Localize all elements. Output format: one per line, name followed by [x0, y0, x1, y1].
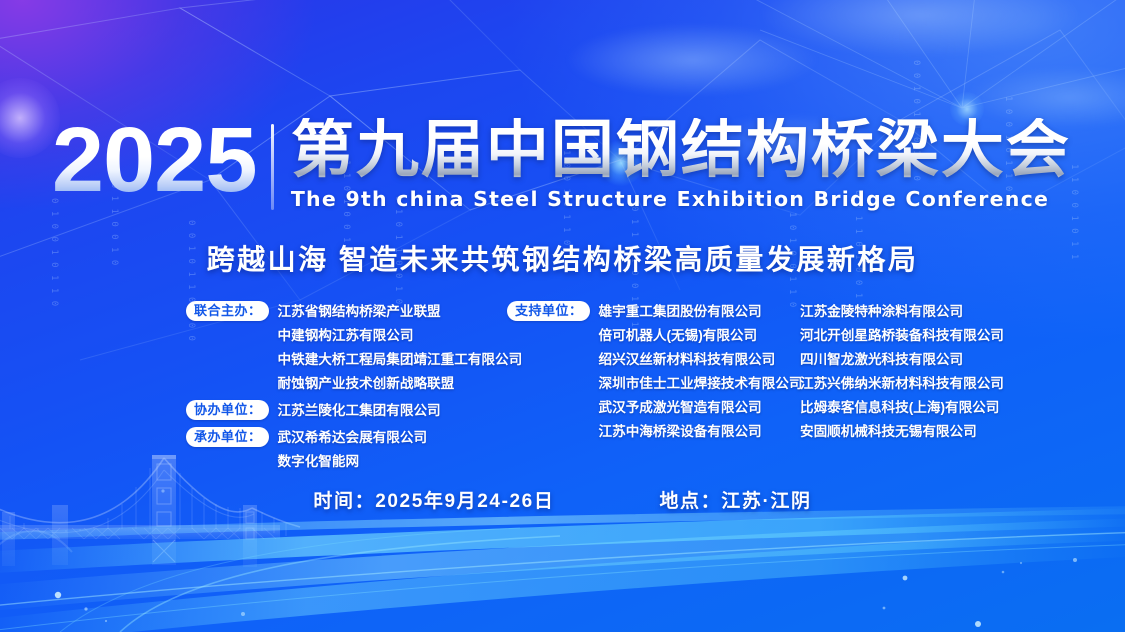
list-item: 安固顺机械科技无锡有限公司 — [800, 420, 1040, 444]
list-item: 江苏兴佛纳米新材料科技有限公司 — [800, 372, 1040, 396]
list-item: 耐蚀钢产业技术创新战略联盟 — [278, 372, 523, 396]
organizer-column-left: 联合主办： 江苏省钢结构桥梁产业联盟 中建钢构江苏有限公司 中铁建大桥工程局集团… — [186, 300, 516, 477]
event-location: 地点：江苏·江阴 — [659, 486, 811, 513]
label-supporters: 支持单位： — [507, 301, 590, 321]
list-item: 中建钢构江苏有限公司 — [278, 324, 523, 348]
label-co-organizers: 协办单位： — [186, 400, 269, 420]
organizer-group-undertakers: 承办单位： 武汉希希达会展有限公司 数字化智能网 — [186, 426, 516, 474]
organizer-column-middle: 支持单位： 雄宇重工集团股份有限公司 倍可机器人(无锡)有限公司 绍兴汉丝新材料… — [507, 300, 807, 447]
list-item: 江苏中海桥梁设备有限公司 — [599, 420, 803, 444]
supporters-list-continued: 江苏金陵特种涂料有限公司 河北开创星路桥装备科技有限公司 四川智龙激光科技有限公… — [800, 300, 1040, 444]
banner-content: 2025 第九届中国钢结构桥梁大会 The 9th china Steel St… — [0, 0, 1125, 632]
list-item: 数字化智能网 — [278, 450, 428, 474]
title-block: 2025 第九届中国钢结构桥梁大会 The 9th china Steel St… — [0, 118, 1125, 211]
organizers-section: 联合主办： 江苏省钢结构桥梁产业联盟 中建钢构江苏有限公司 中铁建大桥工程局集团… — [0, 300, 1125, 450]
event-info-bar: 时间：2025年9月24-26日 地点：江苏·江阴 — [0, 486, 1125, 513]
list-item: 雄宇重工集团股份有限公司 — [599, 300, 803, 324]
title-text-stack: 第九届中国钢结构桥梁大会 The 9th china Steel Structu… — [274, 118, 1071, 211]
conference-slogan: 跨越山海 智造未来共筑钢结构桥梁高质量发展新格局 — [0, 238, 1125, 278]
organizer-group-supporters: 支持单位： 雄宇重工集团股份有限公司 倍可机器人(无锡)有限公司 绍兴汉丝新材料… — [507, 300, 807, 444]
event-date: 时间：2025年9月24-26日 — [313, 486, 554, 513]
conference-title-cn: 第九届中国钢结构桥梁大会 — [291, 118, 1071, 182]
conference-banner: 0 1 0 0 1 0 1 1 0 1 0 1 1 0 0 1 0 0 0 1 … — [0, 0, 1125, 632]
list-item: 比姆泰客信息科技(上海)有限公司 — [800, 396, 1040, 420]
conference-title-en: The 9th china Steel Structure Exhibition… — [291, 187, 1071, 211]
organizer-group-co-organizers: 协办单位： 江苏兰陵化工集团有限公司 — [186, 399, 516, 423]
list-item: 四川智龙激光科技有限公司 — [800, 348, 1040, 372]
co-organizers-list: 江苏兰陵化工集团有限公司 — [278, 399, 441, 423]
list-item: 绍兴汉丝新材料科技有限公司 — [599, 348, 803, 372]
label-co-hosts: 联合主办： — [186, 301, 269, 321]
list-item: 深圳市佳士工业焊接技术有限公司 — [599, 372, 803, 396]
list-item: 江苏兰陵化工集团有限公司 — [278, 399, 441, 423]
list-item: 河北开创星路桥装备科技有限公司 — [800, 324, 1040, 348]
list-item: 江苏金陵特种涂料有限公司 — [800, 300, 1040, 324]
undertakers-list: 武汉希希达会展有限公司 数字化智能网 — [278, 426, 428, 474]
organizer-column-right: 江苏金陵特种涂料有限公司 河北开创星路桥装备科技有限公司 四川智龙激光科技有限公… — [800, 300, 1040, 444]
list-item: 中铁建大桥工程局集团靖江重工有限公司 — [278, 348, 523, 372]
label-undertakers: 承办单位： — [186, 427, 269, 447]
list-item: 武汉希希达会展有限公司 — [278, 426, 428, 450]
year-2025: 2025 — [52, 118, 273, 203]
organizer-group-co-hosts: 联合主办： 江苏省钢结构桥梁产业联盟 中建钢构江苏有限公司 中铁建大桥工程局集团… — [186, 300, 516, 396]
list-item: 江苏省钢结构桥梁产业联盟 — [278, 300, 523, 324]
list-item: 倍可机器人(无锡)有限公司 — [599, 324, 803, 348]
co-hosts-list: 江苏省钢结构桥梁产业联盟 中建钢构江苏有限公司 中铁建大桥工程局集团靖江重工有限… — [278, 300, 523, 396]
supporters-list: 雄宇重工集团股份有限公司 倍可机器人(无锡)有限公司 绍兴汉丝新材料科技有限公司… — [599, 300, 803, 444]
list-item: 武汉予成激光智造有限公司 — [599, 396, 803, 420]
